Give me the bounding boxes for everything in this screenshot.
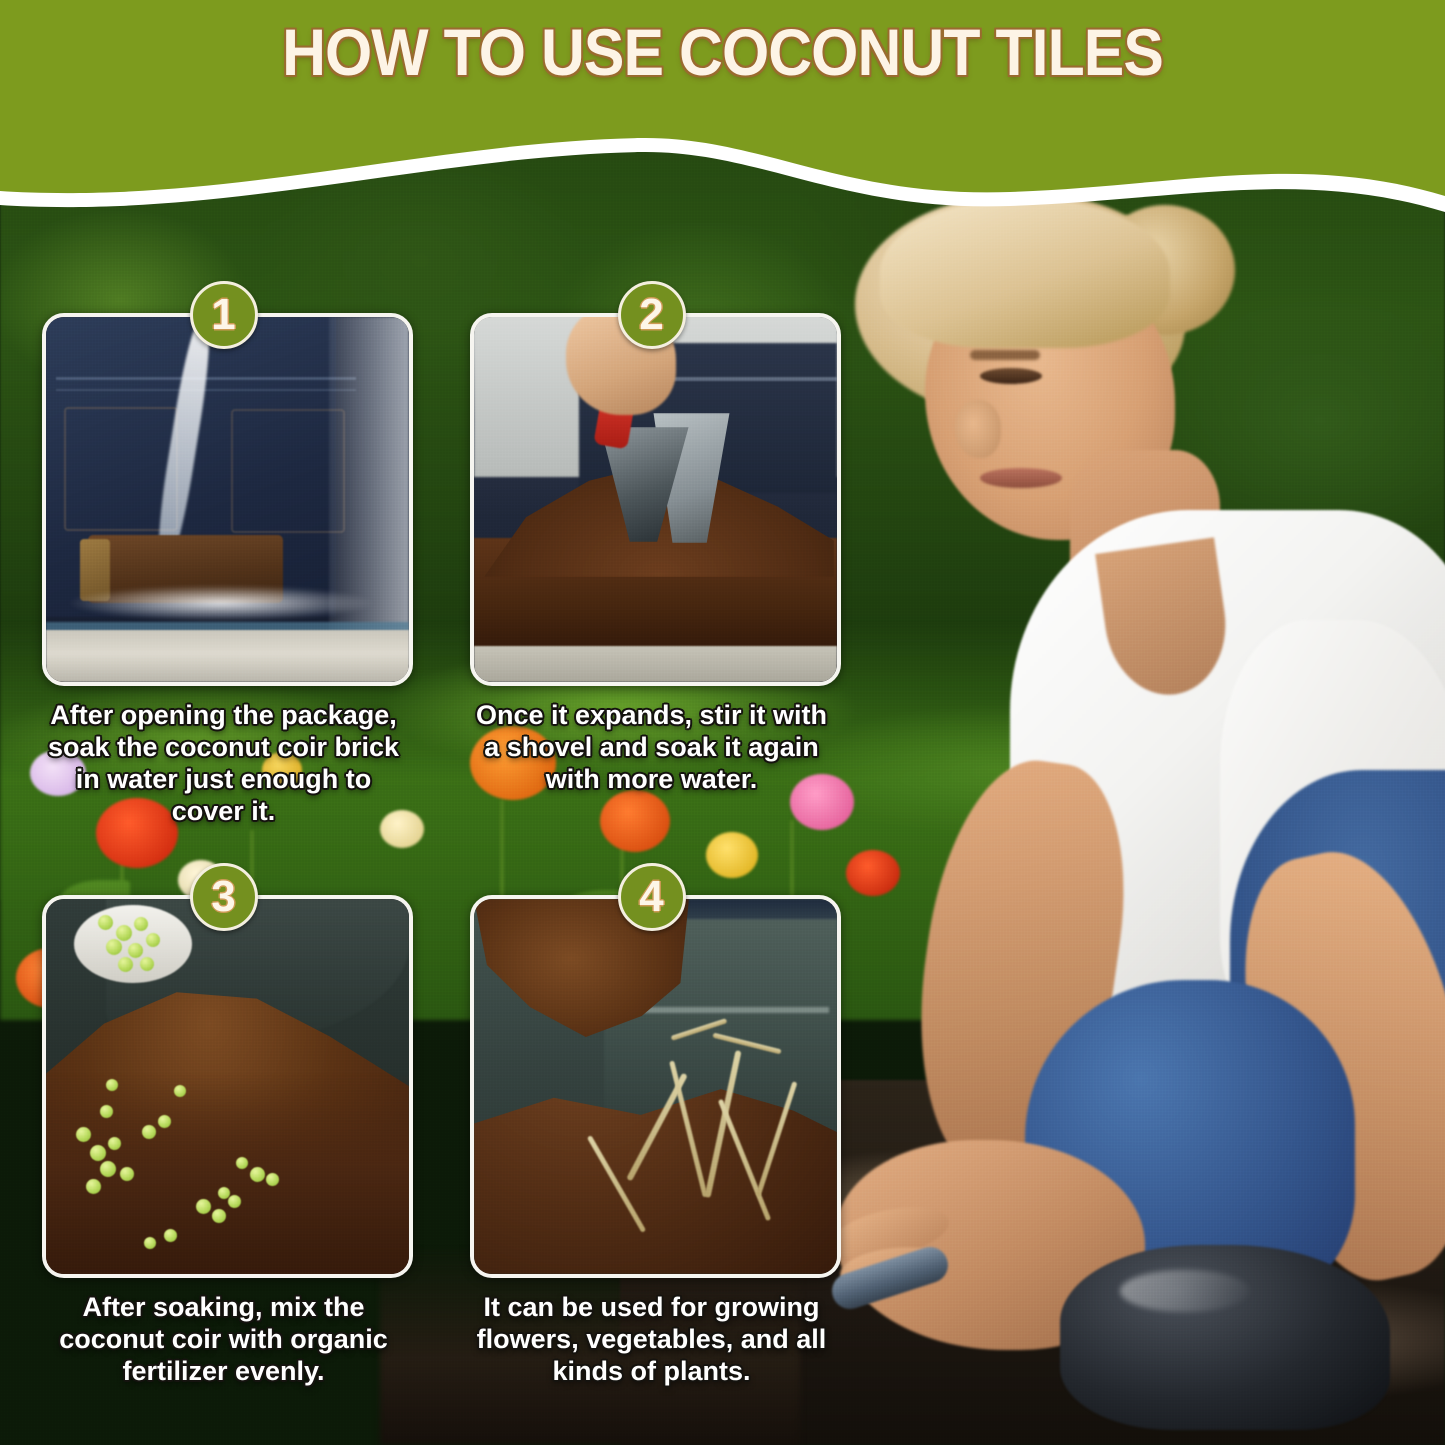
- step-card-4[interactable]: 4 It can be used for growing flowers, ve…: [470, 895, 833, 1388]
- step-caption-2: Once it expands, stir it with a shovel a…: [470, 700, 833, 796]
- step-number-3: 3: [211, 875, 235, 919]
- step-number-2: 2: [639, 293, 663, 337]
- step-number-1: 1: [211, 293, 235, 337]
- step-1-image[interactable]: [42, 313, 413, 686]
- step-number-badge-1: 1: [190, 281, 258, 349]
- step-2-image[interactable]: [470, 313, 841, 686]
- step-4-image[interactable]: [470, 895, 841, 1278]
- step-3-image[interactable]: [42, 895, 413, 1278]
- step-number-badge-3: 3: [190, 863, 258, 931]
- step-number-badge-4: 4: [618, 863, 686, 931]
- step-number-4: 4: [639, 875, 663, 919]
- step-card-2[interactable]: 2 Once it expands, stir it with a shovel…: [470, 313, 833, 796]
- infographic-page: HOW TO USE COCONUT TILES: [0, 0, 1445, 1445]
- step-caption-1: After opening the package, soak the coco…: [42, 700, 405, 827]
- step-caption-3: After soaking, mix the coconut coir with…: [42, 1292, 405, 1388]
- step-number-badge-2: 2: [618, 281, 686, 349]
- step-caption-4: It can be used for growing flowers, vege…: [470, 1292, 833, 1388]
- step-card-1[interactable]: 1 After opening the package, soak the co…: [42, 313, 405, 827]
- step-card-3[interactable]: 3 After soaking, mix the coconut coir wi…: [42, 895, 405, 1388]
- gardener-photo: [830, 150, 1445, 1445]
- steps-grid: 1 After opening the package, soak the co…: [0, 0, 900, 1445]
